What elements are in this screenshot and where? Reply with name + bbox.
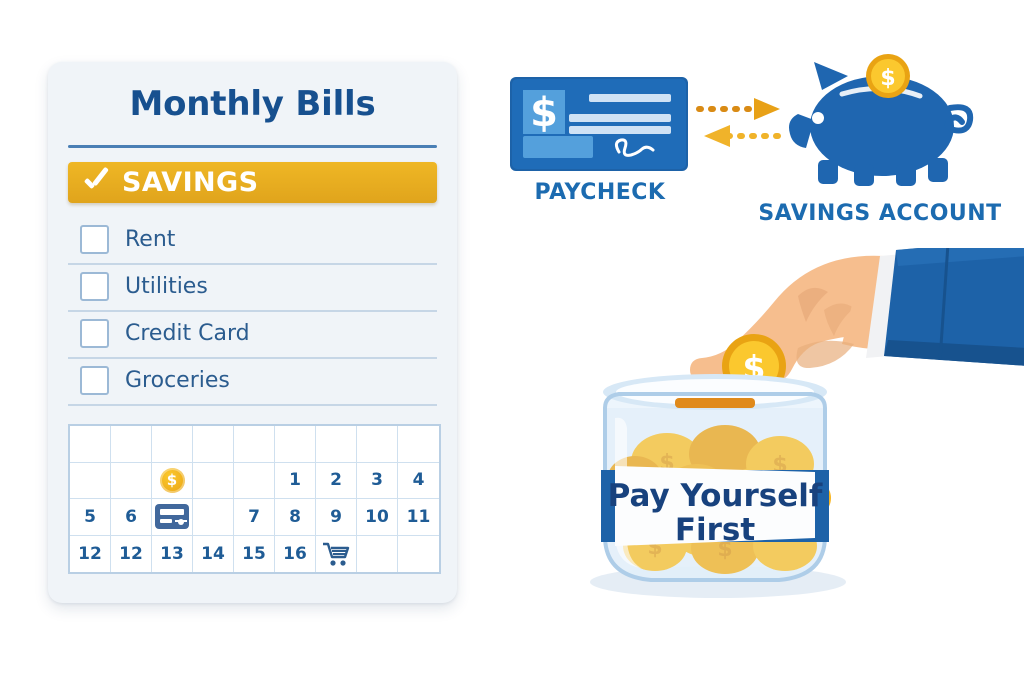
check-icon: [82, 170, 110, 196]
checkbox-rent[interactable]: [80, 225, 109, 254]
jar-label-line1: Pay Yourself: [608, 478, 823, 514]
bill-row-utilities-label: Utilities: [125, 274, 208, 299]
calendar-cell-day[interactable]: 10: [357, 499, 398, 536]
calendar-cell-day[interactable]: 5: [70, 499, 111, 536]
calendar-grid[interactable]: $1234567891011121213141516: [68, 424, 441, 574]
calendar-cell-day[interactable]: 6: [111, 499, 152, 536]
checkbox-groceries[interactable]: [80, 366, 109, 395]
calendar-cell-empty: [193, 499, 234, 536]
calendar-cell-day[interactable]: 15: [234, 536, 275, 573]
calendar-cell-empty: [152, 426, 193, 463]
coin-icon: $: [160, 468, 185, 493]
calendar-cell-day[interactable]: 8: [275, 499, 316, 536]
bill-row-savings[interactable]: SAVINGS: [68, 162, 437, 203]
calendar-cell-empty: [398, 426, 439, 463]
calendar-cell-day[interactable]: 7: [234, 499, 275, 536]
calendar-cell-empty: [316, 426, 357, 463]
savings-account-label: SAVINGS ACCOUNT: [740, 201, 1020, 226]
savings-jar: $ $ $ $ $ $ Pay Yourself First: [575, 330, 855, 608]
calendar-cell-empty: [70, 426, 111, 463]
calendar-cell-credit-card-icon[interactable]: [152, 499, 193, 536]
calendar-cell-day[interactable]: 4: [398, 463, 439, 500]
svg-text:$: $: [530, 90, 558, 136]
bill-row-groceries[interactable]: Groceries: [68, 357, 437, 406]
calendar-cell-empty: [111, 463, 152, 500]
bill-row-credit-card[interactable]: Credit Card: [68, 310, 437, 359]
checkbox-credit-card[interactable]: [80, 319, 109, 348]
title-divider: [68, 145, 437, 148]
page-title: Monthly Bills: [48, 84, 457, 124]
calendar-cell-day[interactable]: 3: [357, 463, 398, 500]
calendar-cell-empty: [234, 463, 275, 500]
calendar-cell-empty: [398, 536, 439, 573]
calendar-cell-day[interactable]: 13: [152, 536, 193, 573]
calendar-cell-empty: [193, 463, 234, 500]
credit-card-icon: [155, 504, 189, 529]
transfer-arrows-icon: [696, 96, 788, 162]
calendar-cell-empty: [275, 426, 316, 463]
calendar-cell-empty: [111, 426, 152, 463]
calendar-cell-coin-icon[interactable]: $: [152, 463, 193, 500]
bill-row-savings-label: SAVINGS: [122, 167, 258, 198]
paycheck-label: PAYCHECK: [490, 180, 710, 205]
bill-row-credit-card-label: Credit Card: [125, 321, 250, 346]
calendar-cell-day[interactable]: 9: [316, 499, 357, 536]
calendar-cell-empty: [234, 426, 275, 463]
calendar-cell-empty: [357, 536, 398, 573]
calendar-cell-day[interactable]: 12: [111, 536, 152, 573]
illustration-canvas: Monthly Bills SAVINGS Rent Utilities Cre…: [0, 0, 1024, 683]
checkbox-utilities[interactable]: [80, 272, 109, 301]
calendar-cell-empty: [193, 426, 234, 463]
calendar-cell-day[interactable]: 11: [398, 499, 439, 536]
calendar-cell-day[interactable]: 14: [193, 536, 234, 573]
bill-row-utilities[interactable]: Utilities: [68, 263, 437, 312]
calendar-cell-day[interactable]: 2: [316, 463, 357, 500]
bill-row-groceries-label: Groceries: [125, 368, 230, 393]
shopping-cart-icon: [322, 541, 350, 567]
calendar-cell-day[interactable]: 12: [70, 536, 111, 573]
calendar-cell-day[interactable]: 1: [275, 463, 316, 500]
calendar-cell-day[interactable]: 16: [275, 536, 316, 573]
bill-row-rent[interactable]: Rent: [68, 216, 437, 265]
calendar-cell-empty: [357, 426, 398, 463]
calendar-cell-empty: [70, 463, 111, 500]
calendar-cell-shopping-cart-icon[interactable]: [316, 536, 357, 573]
piggy-bank-icon: $: [778, 52, 978, 198]
check-document-icon: $: [509, 76, 689, 172]
monthly-bills-card: Monthly Bills SAVINGS Rent Utilities Cre…: [48, 62, 457, 603]
bill-row-rent-label: Rent: [125, 227, 175, 252]
svg-text:$: $: [880, 66, 895, 91]
jar-label-line2: First: [675, 512, 756, 548]
